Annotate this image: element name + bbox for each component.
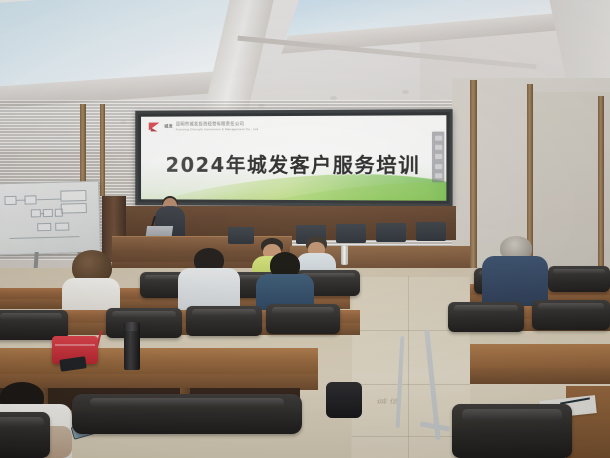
foreground-desk-right-edge: [470, 368, 610, 384]
foreground-chair-left[interactable]: [0, 412, 50, 458]
desk-monitor: [336, 224, 366, 243]
whiteboard-shape: [43, 209, 53, 217]
brand-mark-icon: [149, 123, 162, 132]
whiteboard-connector: [10, 236, 80, 239]
whiteboard-shape: [61, 203, 87, 214]
whiteboard-shape: [55, 222, 69, 230]
whiteboard-shape: [60, 190, 86, 202]
foreground-chair-back[interactable]: [72, 394, 302, 434]
company-logo: 城发 昆明市城发投资经营有限责任公司 Kunming Chengfa Inves…: [149, 122, 258, 131]
attendee-curly-left: [62, 250, 120, 312]
chair-back[interactable]: [266, 304, 340, 334]
whiteboard-shape: [31, 209, 41, 217]
whiteboard-connector: [41, 213, 44, 214]
backpack-on-floor[interactable]: [326, 382, 362, 418]
display-osd-menu[interactable]: [432, 132, 444, 183]
whiteboard-shape: [24, 195, 36, 204]
desk-monitor: [228, 227, 254, 244]
presentation-slide: 城发 昆明市城发投资经营有限责任公司 Kunming Chengfa Inves…: [141, 115, 446, 201]
osd-up-icon[interactable]: [435, 145, 442, 150]
foreground-desk-top: [0, 348, 318, 376]
desk-monitor: [416, 222, 446, 241]
chair-back[interactable]: [106, 308, 182, 338]
chair-back[interactable]: [186, 306, 262, 336]
whiteboard[interactable]: [0, 181, 101, 256]
whiteboard-shape: [4, 196, 16, 205]
chair-back[interactable]: [532, 300, 610, 330]
attendee-grey-tee: [178, 248, 240, 312]
osd-down-icon[interactable]: [435, 154, 442, 159]
chair-back[interactable]: [548, 266, 610, 292]
wall-trim: [598, 96, 604, 276]
whiteboard-connector: [37, 199, 61, 201]
projection-screen[interactable]: 城发 昆明市城发投资经营有限责任公司 Kunming Chengfa Inves…: [135, 109, 452, 207]
osd-menu-icon[interactable]: [435, 136, 442, 141]
whiteboard-shape: [37, 223, 51, 231]
logo-brand-cn: 城发: [164, 125, 173, 129]
chair-back[interactable]: [448, 302, 524, 332]
ceiling-downlight-icon: [402, 90, 409, 94]
water-bottle: [341, 245, 348, 265]
tile-seam: [352, 384, 470, 385]
foreground-desk-right-top: [470, 344, 610, 370]
foreground-chair-right[interactable]: [452, 404, 572, 458]
slide-title: 2024年城发客户服务培训: [141, 149, 446, 179]
wall-trim: [100, 104, 105, 196]
logo-company-en: Kunming Chengfa Investment & Management …: [176, 128, 258, 131]
training-room-photo: 城发 昆明市城发投资经营有限责任公司 Kunming Chengfa Inves…: [0, 0, 610, 458]
black-thermos-flask[interactable]: [124, 322, 140, 370]
desk-monitor: [376, 223, 406, 242]
wall-trim: [470, 80, 477, 276]
whiteboard-shape: [55, 209, 63, 217]
tile-seam: [408, 276, 409, 458]
osd-exit-icon[interactable]: [435, 173, 442, 178]
osd-ok-icon[interactable]: [435, 164, 442, 169]
